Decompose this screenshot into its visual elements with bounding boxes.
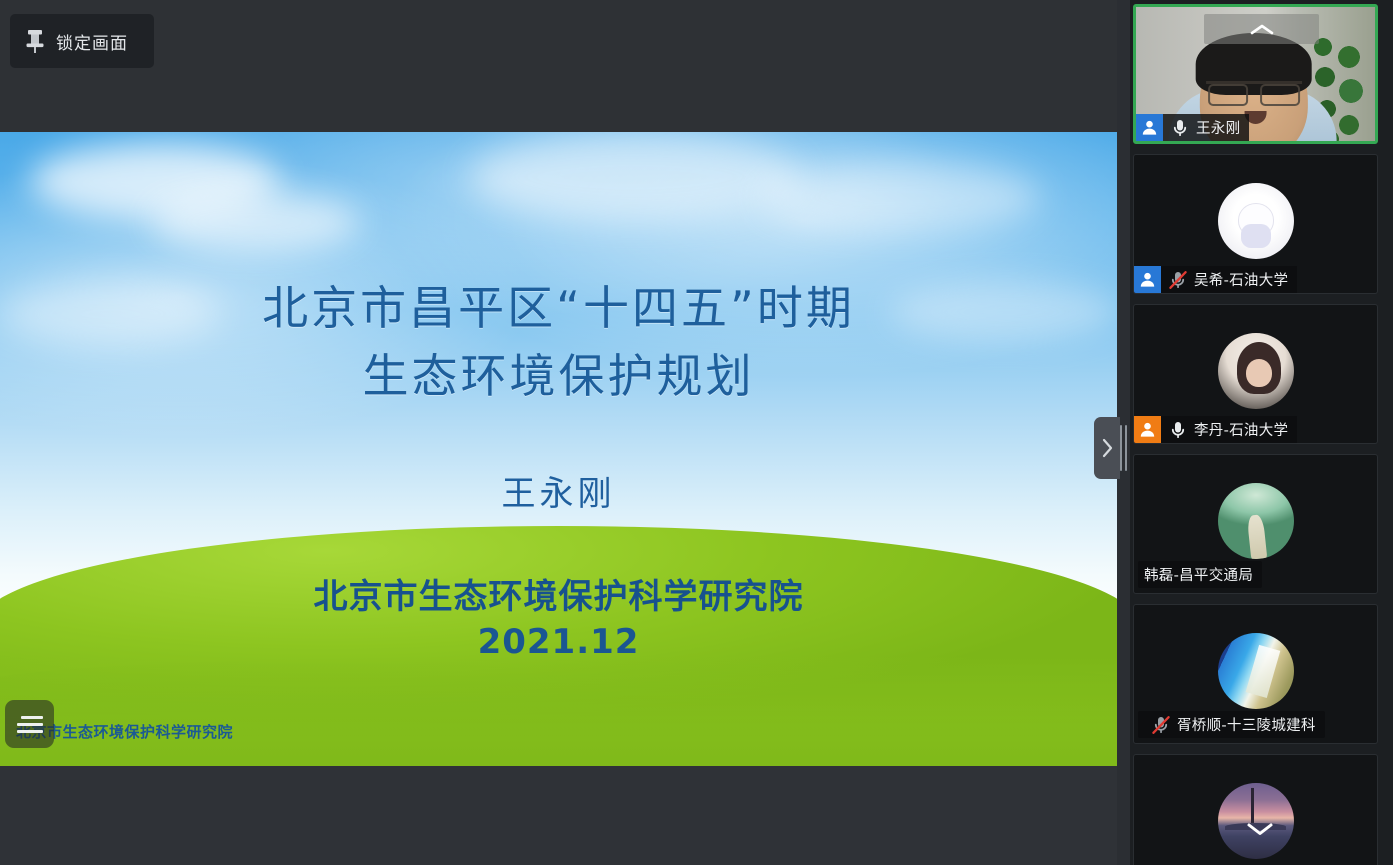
list-menu-icon[interactable] bbox=[5, 700, 54, 748]
participant-name-bar: 吴希-石油大学 bbox=[1134, 266, 1297, 293]
slide-presenter-name: 王永刚 bbox=[502, 466, 616, 515]
participant-tile[interactable]: 韩磊-昌平交通局 bbox=[1133, 454, 1378, 594]
slide-date: 2021.12 bbox=[478, 622, 640, 662]
mic-muted-icon bbox=[1167, 269, 1189, 291]
participants-panel[interactable]: 王永刚 bbox=[1130, 0, 1393, 865]
participant-name-bar: 胥桥顺-十三陵城建科 bbox=[1138, 711, 1325, 738]
participant-tile[interactable]: 李丹-石油大学 bbox=[1133, 304, 1378, 444]
slide-title-line-1: 北京市昌平区“十四五”时期 bbox=[262, 281, 855, 335]
participant-tile[interactable]: 吴希-石油大学 bbox=[1133, 154, 1378, 294]
participant-name: 吴希-石油大学 bbox=[1194, 269, 1288, 290]
participant-name: 王永刚 bbox=[1196, 117, 1240, 138]
meeting-window: 锁定画面 北京市昌平区“十四五”时期 生态环境保护规划 王永刚 北 bbox=[0, 0, 1393, 865]
host-badge-icon bbox=[1134, 266, 1161, 293]
slide-title-line-2: 生态环境保护规划 bbox=[262, 342, 855, 410]
chevron-right-icon bbox=[1101, 438, 1114, 458]
lock-screen-label: 锁定画面 bbox=[56, 29, 128, 54]
mic-unmuted-icon bbox=[1167, 419, 1189, 441]
slide-title: 北京市昌平区“十四五”时期 生态环境保护规划 bbox=[262, 274, 855, 410]
mic-muted-icon bbox=[1150, 714, 1172, 736]
list-menu-bars bbox=[17, 712, 43, 737]
participants-scroll-down-button[interactable] bbox=[1238, 812, 1282, 846]
participant-avatar bbox=[1218, 333, 1294, 409]
share-lower-area bbox=[0, 766, 1117, 865]
chevron-down-icon bbox=[1245, 820, 1275, 838]
chevron-up-icon bbox=[1249, 22, 1275, 37]
participants-scroll-up-button[interactable] bbox=[1204, 14, 1319, 44]
participant-name-bar: 李丹-石油大学 bbox=[1134, 416, 1297, 443]
participant-avatar bbox=[1218, 633, 1294, 709]
participant-name: 胥桥顺-十三陵城建科 bbox=[1177, 714, 1316, 735]
panel-collapse-button[interactable] bbox=[1094, 417, 1120, 479]
cohost-badge-icon bbox=[1134, 416, 1161, 443]
host-badge-icon bbox=[1136, 114, 1163, 141]
slide-content: 北京市昌平区“十四五”时期 生态环境保护规划 王永刚 北京市生态环境保护科学研究… bbox=[0, 132, 1117, 766]
share-toolbar: 锁定画面 bbox=[0, 0, 1117, 132]
shared-content-region: 锁定画面 北京市昌平区“十四五”时期 生态环境保护规划 王永刚 北 bbox=[0, 0, 1117, 865]
participant-avatar bbox=[1218, 483, 1294, 559]
slide-organization: 北京市生态环境保护科学研究院 bbox=[314, 569, 804, 618]
pin-icon bbox=[24, 28, 46, 54]
participant-name-bar: 韩磊-昌平交通局 bbox=[1138, 561, 1262, 588]
shared-slide[interactable]: 北京市昌平区“十四五”时期 生态环境保护规划 王永刚 北京市生态环境保护科学研究… bbox=[0, 132, 1117, 766]
participant-name-bar: 王永刚 bbox=[1136, 114, 1249, 141]
participant-avatar bbox=[1218, 183, 1294, 259]
lock-screen-button[interactable]: 锁定画面 bbox=[10, 14, 154, 68]
participant-name: 李丹-石油大学 bbox=[1194, 419, 1288, 440]
participant-name: 韩磊-昌平交通局 bbox=[1144, 564, 1253, 585]
participant-tile[interactable]: 胥桥顺-十三陵城建科 bbox=[1133, 604, 1378, 744]
participant-tile[interactable] bbox=[1133, 754, 1378, 865]
mic-unmuted-icon bbox=[1169, 117, 1191, 139]
panel-resize-handle[interactable] bbox=[1119, 424, 1128, 472]
